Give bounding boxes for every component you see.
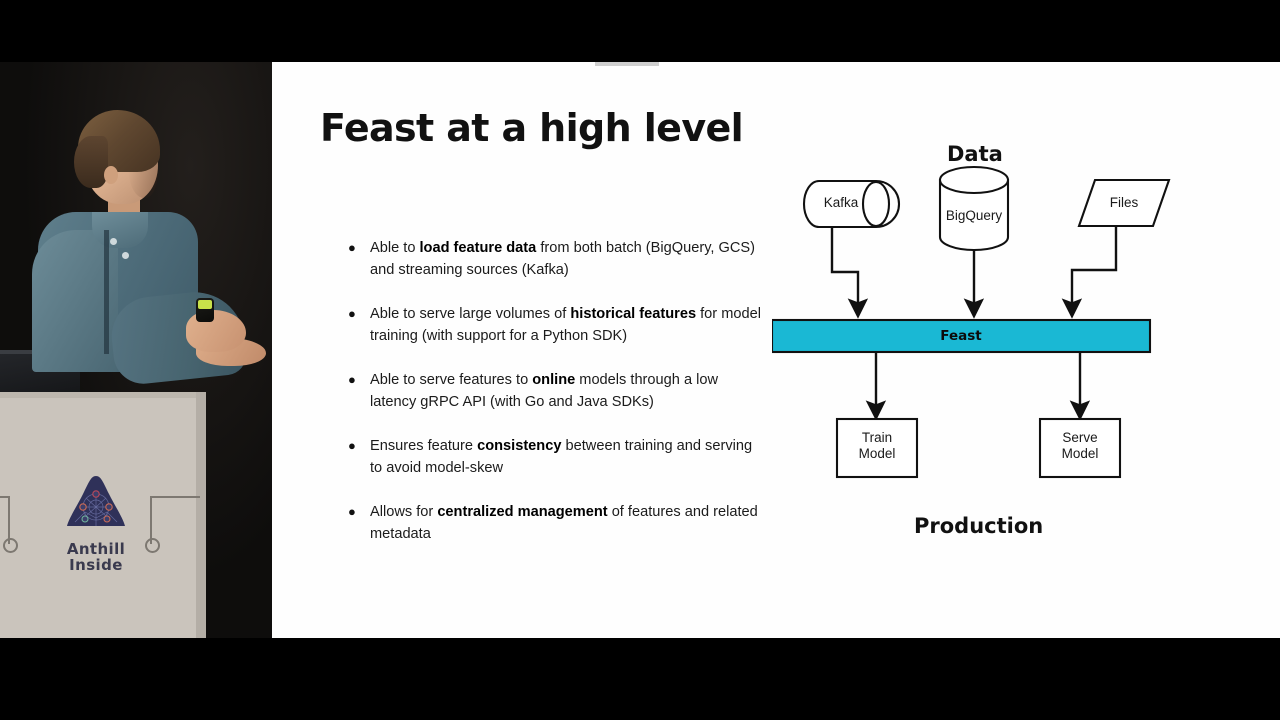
bullet-text: Able to serve large volumes of historica…: [370, 303, 768, 347]
speaker-video-pane: Anthill Inside: [0, 62, 272, 638]
podium-graphic-circle: [3, 538, 18, 553]
logo-text-line2: Inside: [48, 557, 144, 573]
architecture-diagram: Data Production: [772, 122, 1242, 602]
diagram-bottom-label: Production: [914, 514, 1043, 538]
speaker-hand: [186, 310, 246, 352]
speaker-ear: [104, 166, 118, 184]
bullet-dot-icon: ●: [348, 369, 370, 413]
files-node-label: Files: [1086, 195, 1162, 211]
shirt-button: [122, 252, 129, 259]
bullet-dot-icon: ●: [348, 435, 370, 479]
bullet-list: ● Able to load feature data from both ba…: [348, 237, 768, 567]
bullet-text: Able to load feature data from both batc…: [370, 237, 768, 281]
speaker-hair-back: [74, 136, 108, 188]
anthill-inside-logo: Anthill Inside: [48, 474, 144, 604]
bullet-dot-icon: ●: [348, 501, 370, 545]
bullet-text: Able to serve features to online models …: [370, 369, 768, 413]
podium-graphic-circle: [145, 538, 160, 553]
kafka-to-feast-connector: [832, 227, 858, 308]
slide-top-notch: [595, 62, 659, 66]
shirt-placket: [104, 230, 109, 354]
podium-side-edge: [196, 392, 206, 638]
podium-graphic-line: [150, 496, 152, 544]
bullet-text: Ensures feature consistency between trai…: [370, 435, 768, 479]
podium-top-edge: [0, 392, 204, 398]
clicker-led: [198, 300, 212, 309]
bullet-dot-icon: ●: [348, 303, 370, 347]
list-item: ● Able to serve large volumes of histori…: [348, 303, 768, 347]
bullet-text: Allows for centralized management of fea…: [370, 501, 768, 545]
train-model-label: Train Model: [837, 430, 917, 462]
serve-model-label-line1: Serve: [1040, 430, 1120, 446]
train-model-label-line1: Train: [837, 430, 917, 446]
feast-bar-label: Feast: [772, 328, 1150, 344]
kafka-node-label: Kafka: [804, 195, 878, 211]
presentation-slide: Feast at a high level ● Able to load fea…: [272, 62, 1280, 638]
diagram-top-label: Data: [947, 142, 1003, 166]
files-to-feast-connector: [1072, 226, 1116, 308]
serve-model-label-line2: Model: [1040, 446, 1120, 462]
podium-graphic-line: [8, 496, 10, 544]
shirt-button: [110, 238, 117, 245]
screen-root: Anthill Inside Feast at a high level ● A…: [0, 0, 1280, 720]
slide-title: Feast at a high level: [320, 106, 743, 150]
bigquery-node-label: BigQuery: [932, 208, 1016, 224]
list-item: ● Ensures feature consistency between tr…: [348, 435, 768, 479]
bullet-dot-icon: ●: [348, 237, 370, 281]
list-item: ● Allows for centralized management of f…: [348, 501, 768, 545]
shirt-collar: [92, 212, 148, 248]
list-item: ● Able to serve features to online model…: [348, 369, 768, 413]
logo-text-line1: Anthill: [48, 541, 144, 557]
list-item: ● Able to load feature data from both ba…: [348, 237, 768, 281]
train-model-label-line2: Model: [837, 446, 917, 462]
serve-model-label: Serve Model: [1040, 430, 1120, 462]
podium-graphic-line: [150, 496, 200, 498]
anthill-triangle-network-icon: [63, 474, 129, 532]
